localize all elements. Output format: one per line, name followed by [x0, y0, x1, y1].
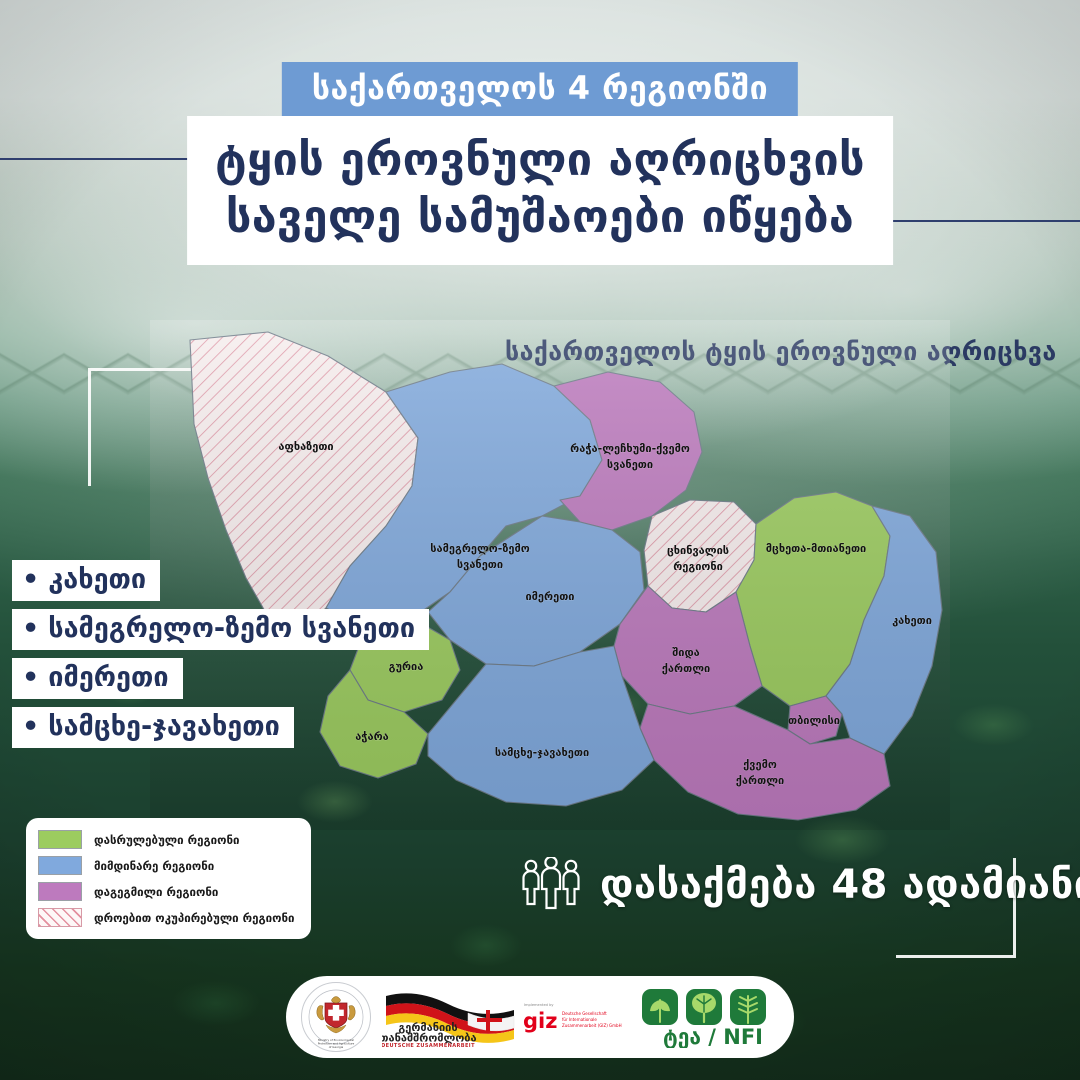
map-label: რეგიონი: [673, 560, 723, 573]
nfi-logo: ტეა / NFI: [636, 986, 790, 1048]
region-bullet-list: კახეთი სამეგრელო-ზემო სვანეთი იმერეთი სა…: [12, 560, 429, 756]
map-label: ქართლი: [736, 774, 784, 787]
svg-text:DEUTSCHE ZUSAMMENARBEIT: DEUTSCHE ZUSAMMENARBEIT: [382, 1043, 475, 1048]
kicker-banner: საქართველოს 4 რეგიონში: [282, 62, 798, 118]
map-label: აფხაზეთი: [278, 440, 333, 453]
employment-stat: დასაქმება 48 ადამიანი: [518, 857, 1080, 913]
partner-logo-bar: Ministry of Environmental Protection and…: [286, 976, 794, 1058]
legend-swatch-blue: [38, 856, 82, 875]
giz-logo: Implemented by giz Deutsche Gesellschaft…: [520, 996, 632, 1038]
page-title-line-2: საველე სამუშაოები იწყება: [215, 189, 865, 246]
map-label: შიდა: [672, 646, 700, 659]
german-cooperation-logo: გერმანიის თანამშრომლობა DEUTSCHE ZUSAMME…: [382, 986, 518, 1048]
legend-label: დასრულებული რეგიონი: [94, 833, 239, 847]
map-legend: დასრულებული რეგიონი მიმდინარე რეგიონი და…: [26, 818, 311, 939]
svg-text:Implemented by: Implemented by: [524, 1003, 554, 1007]
legend-item-occupied: დროებით ოკუპირებული რეგიონი: [38, 908, 295, 927]
map-label: სამცხე-ჯავახეთი: [495, 746, 589, 759]
svg-text:für Internationale: für Internationale: [562, 1017, 597, 1022]
infographic-poster: საქართველოს 4 რეგიონში ტყის ეროვნული აღრ…: [0, 0, 1080, 1080]
list-item: სამცხე-ჯავახეთი: [12, 707, 294, 748]
map-label: სვანეთი: [607, 458, 653, 471]
map-label: მცხეთა-მთიანეთი: [766, 542, 867, 555]
map-label: თბილისი: [788, 714, 840, 727]
legend-swatch-purple: [38, 882, 82, 901]
svg-text:Deutsche Gesellschaft: Deutsche Gesellschaft: [562, 1011, 607, 1016]
legend-label: დაგეგმილი რეგიონი: [94, 885, 218, 899]
list-item: კახეთი: [12, 560, 160, 601]
employment-stat-text: დასაქმება 48 ადამიანი: [600, 862, 1080, 908]
legend-item-ongoing: მიმდინარე რეგიონი: [38, 856, 295, 875]
three-people-icon: [518, 857, 584, 913]
list-item: სამეგრელო-ზემო სვანეთი: [12, 609, 429, 650]
legend-item-planned: დაგეგმილი რეგიონი: [38, 882, 295, 901]
ministry-seal-logo: Ministry of Environmental Protection and…: [300, 981, 372, 1053]
map-label: რაჭა-ლეჩხუმი-ქვემო: [570, 442, 690, 455]
svg-text:of Georgia: of Georgia: [329, 1045, 344, 1049]
legend-swatch-green: [38, 830, 82, 849]
map-label: სვანეთი: [457, 558, 503, 571]
map-label: ქვემო: [743, 758, 777, 771]
legend-item-completed: დასრულებული რეგიონი: [38, 830, 295, 849]
legend-swatch-hatched: [38, 908, 82, 927]
svg-text:giz: giz: [523, 1009, 557, 1033]
map-label: კახეთი: [892, 614, 932, 627]
region-samtskhe-javakheti[interactable]: [428, 646, 654, 806]
map-label: სამეგრელო-ზემო: [430, 542, 529, 555]
svg-text:Zusammenarbeit (GIZ) GmbH: Zusammenarbeit (GIZ) GmbH: [562, 1023, 622, 1028]
title-card: ტყის ეროვნული აღრიცხვის საველე სამუშაოებ…: [187, 116, 893, 265]
map-label: ცხინვალის: [667, 544, 729, 557]
list-item: იმერეთი: [12, 658, 183, 699]
map-label: ქართლი: [662, 662, 710, 675]
legend-label: მიმდინარე რეგიონი: [94, 859, 214, 873]
svg-text:ტეა / NFI: ტეა / NFI: [663, 1025, 763, 1048]
legend-label: დროებით ოკუპირებული რეგიონი: [94, 911, 295, 925]
page-title-line-1: ტყის ეროვნული აღრიცხვის: [215, 132, 865, 189]
map-label: იმერეთი: [525, 590, 574, 603]
